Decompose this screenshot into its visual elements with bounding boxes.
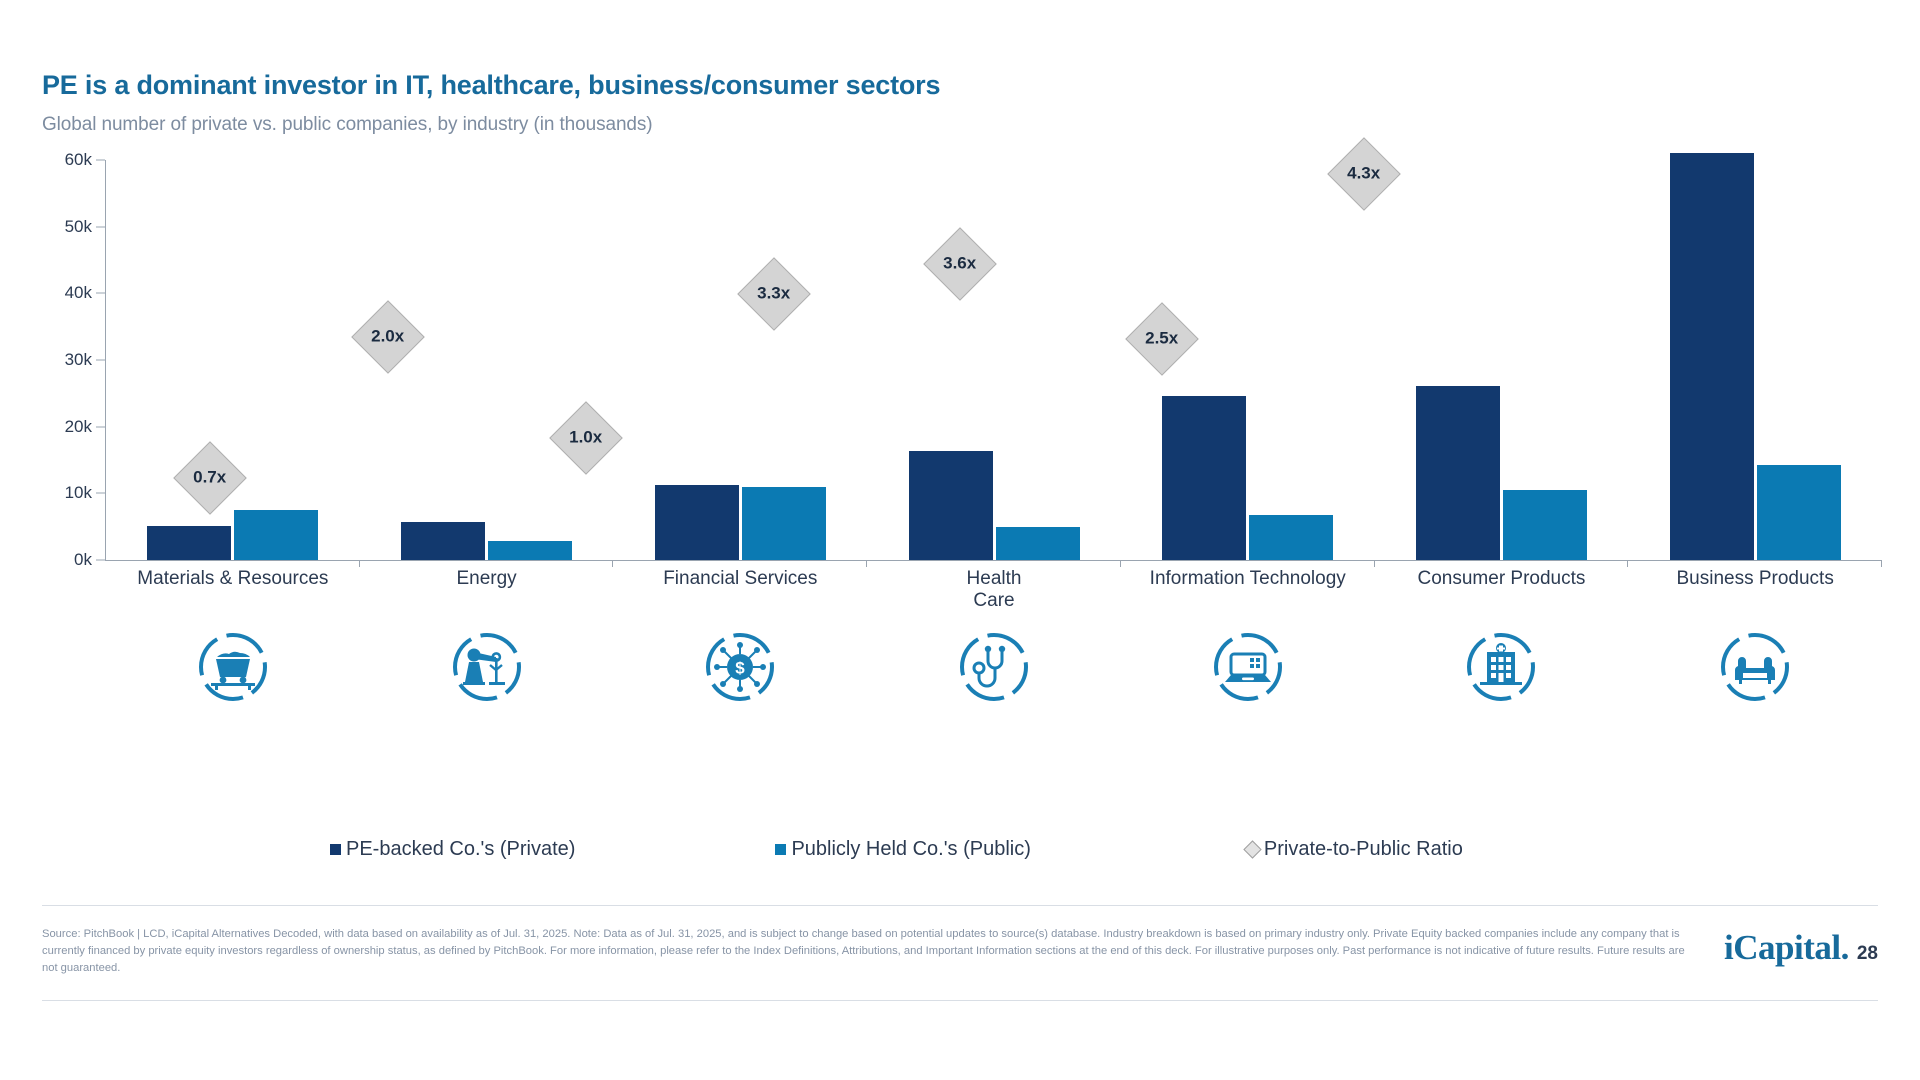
y-axis-tick-label: 40k xyxy=(65,283,92,303)
bar-group xyxy=(1375,160,1629,560)
y-axis-tick-label: 20k xyxy=(65,417,92,437)
legend-swatch-ratio xyxy=(1243,840,1261,858)
bar-pair xyxy=(401,522,572,560)
mining-cart-icon xyxy=(196,630,270,704)
x-axis-labels: Materials & ResourcesEnergyFinancial Ser… xyxy=(106,568,1882,612)
y-axis-tick-mark xyxy=(96,493,105,494)
laptop-icon xyxy=(1211,630,1285,704)
ratio-label: 0.7x xyxy=(193,468,226,488)
industry-icon-cell xyxy=(106,630,360,704)
ratio-label: 3.6x xyxy=(943,254,976,274)
bar-public[interactable] xyxy=(488,541,572,560)
ratio-label: 4.3x xyxy=(1347,164,1380,184)
footnote-text: Source: PitchBook | LCD, iCapital Altern… xyxy=(42,926,1692,976)
bar-public[interactable] xyxy=(234,510,318,560)
footer-divider-bottom xyxy=(42,1000,1878,1001)
legend-label: Publicly Held Co.'s (Public) xyxy=(791,838,1030,861)
page-title: PE is a dominant investor in IT, healthc… xyxy=(42,70,940,101)
brand-block: iCapital. 28 xyxy=(1724,928,1878,968)
x-axis-category-label: Information Technology xyxy=(1121,568,1375,612)
bar-group xyxy=(613,160,867,560)
chart-plot-area: 0k10k20k30k40k50k60k 0.7x2.0x1.0x3.3x3.6… xyxy=(42,160,1882,580)
y-axis-tick-mark xyxy=(96,426,105,427)
legend-swatch-private xyxy=(330,844,341,855)
x-axis-category-label: Materials & Resources xyxy=(106,568,360,612)
industry-icon-cell xyxy=(867,630,1121,704)
x-axis-category-label: Business Products xyxy=(1628,568,1882,612)
bar-pair xyxy=(1416,386,1587,560)
ratio-label: 3.3x xyxy=(757,284,790,304)
industry-icon-cell xyxy=(1121,630,1375,704)
legend-item[interactable]: Publicly Held Co.'s (Public) xyxy=(775,838,1030,861)
bar-public[interactable] xyxy=(1249,515,1333,560)
ratio-label: 2.0x xyxy=(371,327,404,347)
svg-text:$: $ xyxy=(736,659,746,678)
slide-root: PE is a dominant investor in IT, healthc… xyxy=(0,0,1920,1080)
building-icon xyxy=(1464,630,1538,704)
bar-groups: 0.7x2.0x1.0x3.3x3.6x2.5x4.3x xyxy=(106,160,1882,560)
y-axis-tick-label: 0k xyxy=(74,550,92,570)
industry-icon-cell: $ xyxy=(613,630,867,704)
page-subtitle: Global number of private vs. public comp… xyxy=(42,114,653,136)
y-axis-tick-label: 50k xyxy=(65,217,92,237)
bar-private[interactable] xyxy=(1416,386,1500,560)
icapital-logo: iCapital. xyxy=(1724,928,1849,968)
y-axis-tick-label: 10k xyxy=(65,483,92,503)
y-axis-tick-mark xyxy=(96,160,105,161)
bar-public[interactable] xyxy=(996,527,1080,560)
bar-pair xyxy=(1670,153,1841,560)
x-axis-line xyxy=(105,560,1882,561)
bar-pair xyxy=(655,485,826,560)
y-axis-labels: 0k10k20k30k40k50k60k xyxy=(42,160,102,560)
x-axis-category-label: Financial Services xyxy=(613,568,867,612)
y-axis-tick-mark xyxy=(96,293,105,294)
sofa-icon xyxy=(1718,630,1792,704)
chart-legend: PE-backed Co.'s (Private)Publicly Held C… xyxy=(330,838,1630,861)
y-axis-tick-mark xyxy=(96,226,105,227)
bar-private[interactable] xyxy=(1670,153,1754,560)
industry-icon-cell xyxy=(1375,630,1629,704)
bar-group xyxy=(1628,160,1882,560)
stethoscope-icon xyxy=(957,630,1031,704)
bar-public[interactable] xyxy=(1503,490,1587,560)
oil-pump-icon xyxy=(450,630,524,704)
bar-pair xyxy=(1162,396,1333,560)
bar-private[interactable] xyxy=(147,526,231,560)
y-axis-tick-label: 30k xyxy=(65,350,92,370)
bar-public[interactable] xyxy=(742,487,826,560)
y-axis-tick-mark xyxy=(96,360,105,361)
ratio-label: 2.5x xyxy=(1145,329,1178,349)
bar-private[interactable] xyxy=(1162,396,1246,560)
legend-item[interactable]: PE-backed Co.'s (Private) xyxy=(330,838,575,861)
industry-icon-cell xyxy=(1628,630,1882,704)
bar-private[interactable] xyxy=(655,485,739,560)
dollar-network-icon: $ xyxy=(703,630,777,704)
legend-label: Private-to-Public Ratio xyxy=(1264,838,1463,861)
page-number: 28 xyxy=(1857,943,1878,965)
x-axis-category-label: Consumer Products xyxy=(1375,568,1629,612)
bar-group xyxy=(106,160,360,560)
legend-swatch-public xyxy=(775,844,786,855)
legend-label: PE-backed Co.'s (Private) xyxy=(346,838,575,861)
industry-icon-cell xyxy=(360,630,614,704)
x-axis-category-label: HealthCare xyxy=(867,568,1121,612)
bar-pair xyxy=(909,451,1080,560)
y-axis-tick-label: 60k xyxy=(65,150,92,170)
footer-divider-top xyxy=(42,905,1878,906)
industry-icons-row: $ xyxy=(106,630,1882,704)
x-axis-category-label: Energy xyxy=(360,568,614,612)
bar-private[interactable] xyxy=(909,451,993,560)
y-axis-tick-mark xyxy=(96,560,105,561)
ratio-label: 1.0x xyxy=(569,428,602,448)
bar-public[interactable] xyxy=(1757,465,1841,560)
bar-pair xyxy=(147,510,318,560)
legend-item[interactable]: Private-to-Public Ratio xyxy=(1246,838,1463,861)
bar-group xyxy=(867,160,1121,560)
bar-private[interactable] xyxy=(401,522,485,560)
